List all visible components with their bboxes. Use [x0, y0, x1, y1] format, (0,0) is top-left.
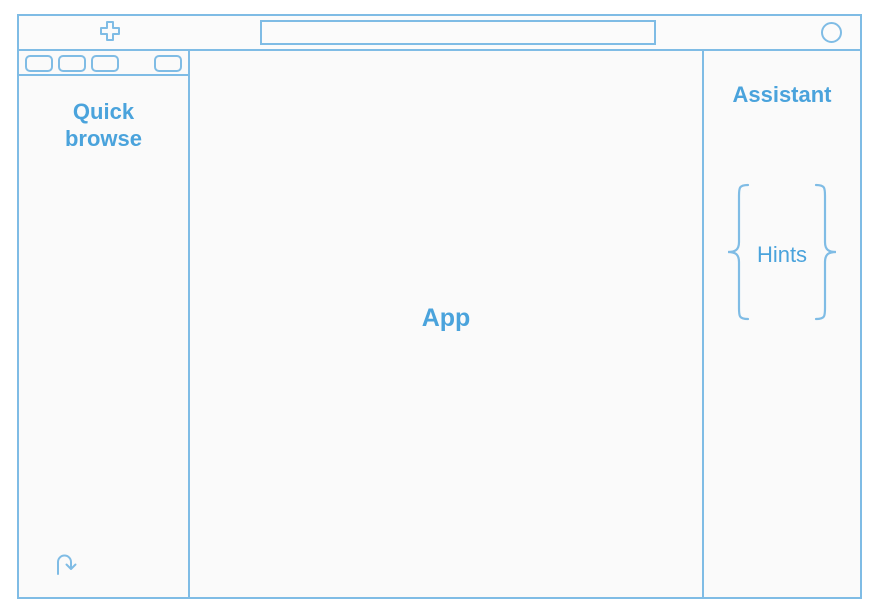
right-brace-icon	[813, 182, 839, 327]
top-bar	[19, 16, 860, 51]
sidebar-item-tab-chip-3[interactable]	[91, 55, 119, 72]
hints-block: Hints	[725, 182, 839, 327]
app-label: App	[422, 304, 471, 333]
app-canvas[interactable]: App	[190, 51, 704, 597]
sidebar-toolbar	[19, 51, 188, 76]
search-input[interactable]	[260, 20, 656, 45]
quick-browse-title: Quick browse	[39, 99, 169, 153]
u-turn-arrow-icon[interactable]	[45, 546, 85, 582]
wireframe-window: Quick browse App Assistant	[17, 14, 862, 599]
hints-label: Hints	[757, 242, 807, 268]
avatar-circle-icon[interactable]	[821, 22, 842, 43]
content-row: Quick browse App Assistant	[19, 51, 860, 597]
add-button[interactable]	[96, 19, 124, 46]
sidebar-panel: Quick browse	[19, 51, 190, 597]
sidebar-body: Quick browse	[19, 76, 188, 597]
sidebar-item-tab-chip-1[interactable]	[25, 55, 53, 72]
sidebar-item-tab-chip-2[interactable]	[58, 55, 86, 72]
assistant-panel: Assistant Hints	[704, 51, 860, 597]
assistant-title: Assistant	[732, 82, 831, 108]
sidebar-item-tab-chip-4[interactable]	[154, 55, 182, 72]
plus-icon	[99, 20, 121, 45]
left-brace-icon	[725, 182, 751, 327]
